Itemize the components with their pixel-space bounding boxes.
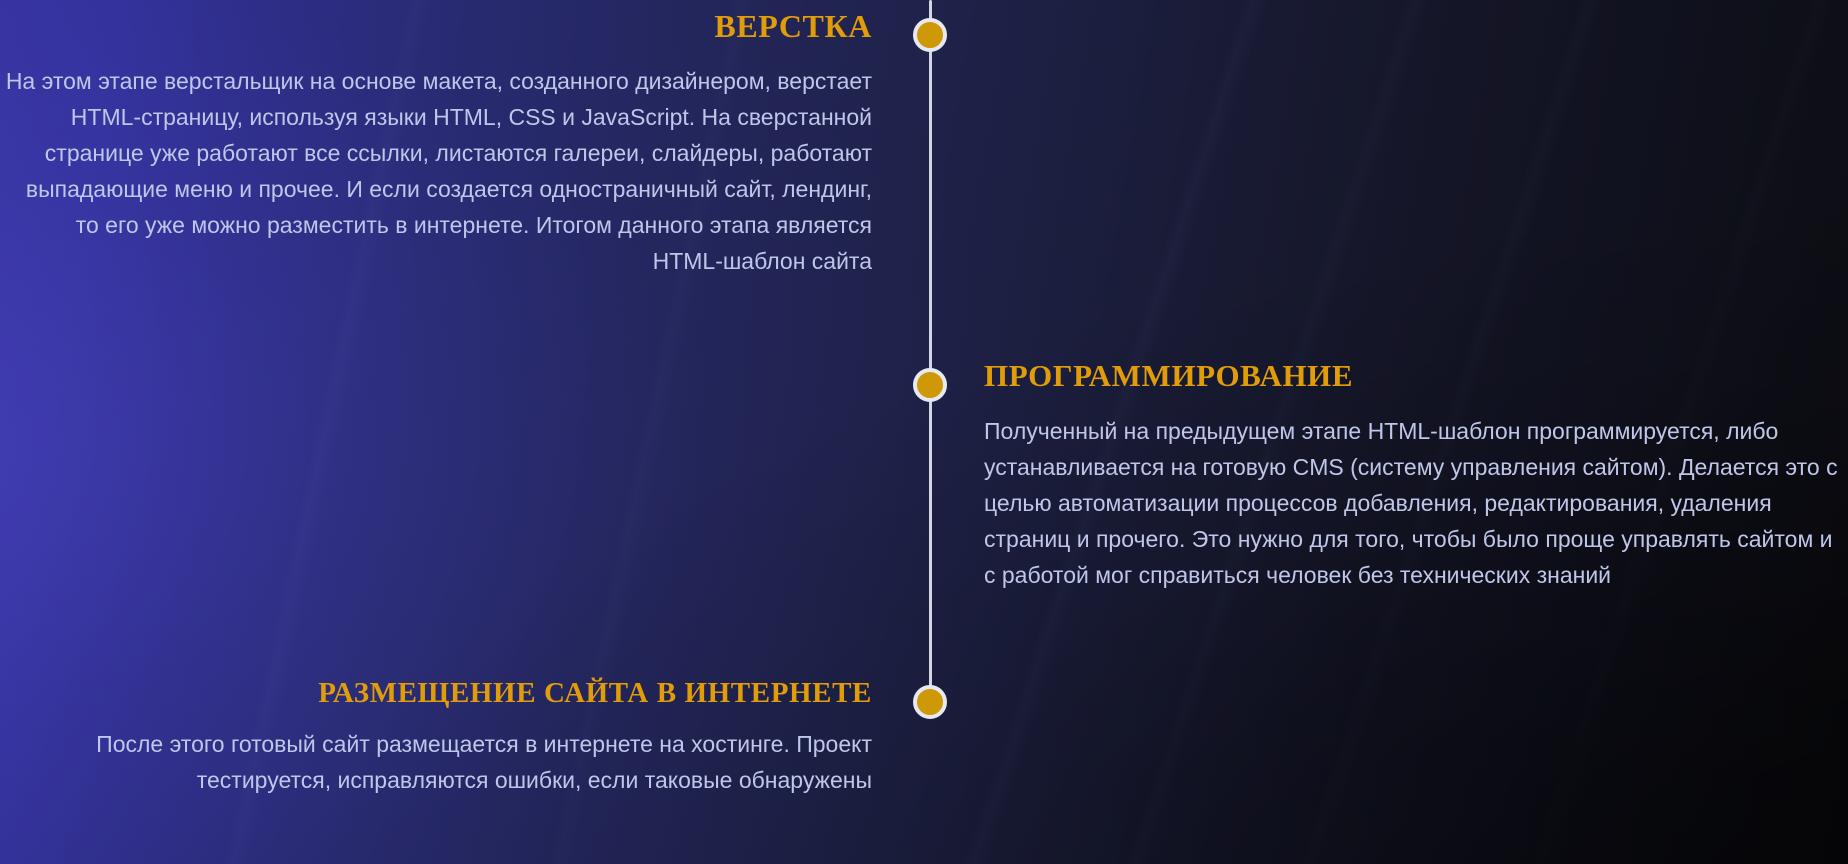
timeline-step-title: ПРОГРАММИРОВАНИЕ: [984, 358, 1848, 394]
timeline-dot-programmirovanie[interactable]: [913, 368, 947, 402]
timeline-step-title: ВЕРСТКА: [0, 8, 872, 44]
timeline-dot-razmeshchenie[interactable]: [913, 685, 947, 719]
timeline-step-programmirovanie: ПРОГРАММИРОВАНИЕ Полученный на предыдуще…: [984, 358, 1848, 593]
timeline-step-razmeshchenie: РАЗМЕЩЕНИЕ САЙТА В ИНТЕРНЕТЕ После этого…: [0, 676, 872, 798]
timeline-step-title: РАЗМЕЩЕНИЕ САЙТА В ИНТЕРНЕТЕ: [0, 676, 872, 710]
timeline-step-description: После этого готовый сайт размещается в и…: [0, 726, 872, 798]
timeline-section: ВЕРСТКА На этом этапе верстальщик на осн…: [0, 0, 1848, 864]
timeline-dot-verstka[interactable]: [913, 18, 947, 52]
timeline-step-description: На этом этапе верстальщик на основе маке…: [0, 63, 872, 279]
timeline-step-description: Полученный на предыдущем этапе HTML-шабл…: [984, 413, 1848, 593]
timeline-vertical-line: [929, 0, 932, 703]
timeline-step-verstka: ВЕРСТКА На этом этапе верстальщик на осн…: [0, 8, 872, 279]
